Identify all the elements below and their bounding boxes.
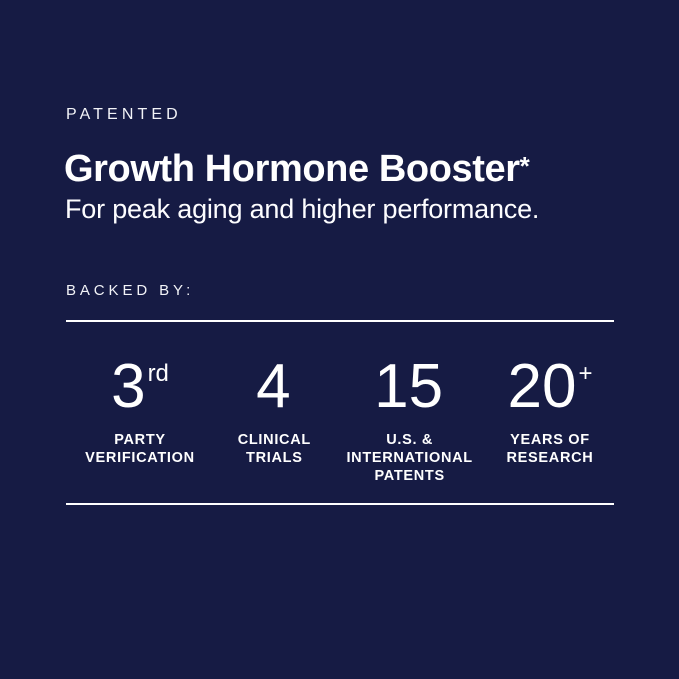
stat-label-line: YEARS OF: [506, 431, 593, 449]
stat-number-text: 3: [111, 352, 145, 421]
promo-card: PATENTED Growth Hormone Booster* For pea…: [0, 0, 679, 679]
stat-item: 20+ YEARS OF RESEARCH: [486, 342, 614, 467]
stat-label-line: RESEARCH: [506, 449, 593, 467]
stat-label-line: CLINICAL: [238, 431, 311, 449]
stat-label-line: INTERNATIONAL: [346, 449, 472, 467]
stat-value: 20+: [507, 342, 592, 419]
stat-item: 15 U.S. & INTERNATIONAL PATENTS: [335, 342, 485, 485]
divider-bottom: [66, 503, 614, 505]
page-title-text: Growth Hormone Booster: [64, 148, 520, 190]
stats-row: 3rd PARTY VERIFICATION 4 CLINICAL TRIALS: [66, 342, 614, 485]
stat-item: 4 CLINICAL TRIALS: [215, 342, 333, 467]
backed-by-label: BACKED BY:: [66, 283, 194, 298]
page-title: Growth Hormone Booster*: [64, 144, 530, 191]
eyebrow-patented: PATENTED: [66, 107, 182, 123]
page-subtitle: For peak aging and higher performance.: [65, 192, 539, 226]
stat-label-line: TRIALS: [238, 449, 311, 467]
stat-number-text: 20: [507, 352, 576, 421]
stat-label-line: VERIFICATION: [85, 449, 195, 467]
stat-label: YEARS OF RESEARCH: [506, 431, 593, 467]
stat-label-line: PATENTS: [346, 467, 472, 485]
stat-label: PARTY VERIFICATION: [85, 431, 195, 467]
stat-label: CLINICAL TRIALS: [238, 431, 311, 467]
stat-number-text: 15: [374, 352, 443, 421]
stat-label-line: U.S. &: [346, 431, 472, 449]
stat-value: 3rd: [111, 342, 169, 419]
stat-label: U.S. & INTERNATIONAL PATENTS: [346, 431, 472, 485]
stat-number-text: 4: [256, 352, 290, 421]
stat-suffix: +: [578, 360, 592, 387]
stat-value: 15: [374, 342, 445, 419]
stat-item: 3rd PARTY VERIFICATION: [66, 342, 214, 467]
divider-top: [66, 320, 614, 322]
stat-label-line: PARTY: [85, 431, 195, 449]
footnote-asterisk: *: [520, 151, 530, 181]
stat-suffix: rd: [148, 360, 169, 387]
stat-value: 4: [256, 342, 292, 419]
